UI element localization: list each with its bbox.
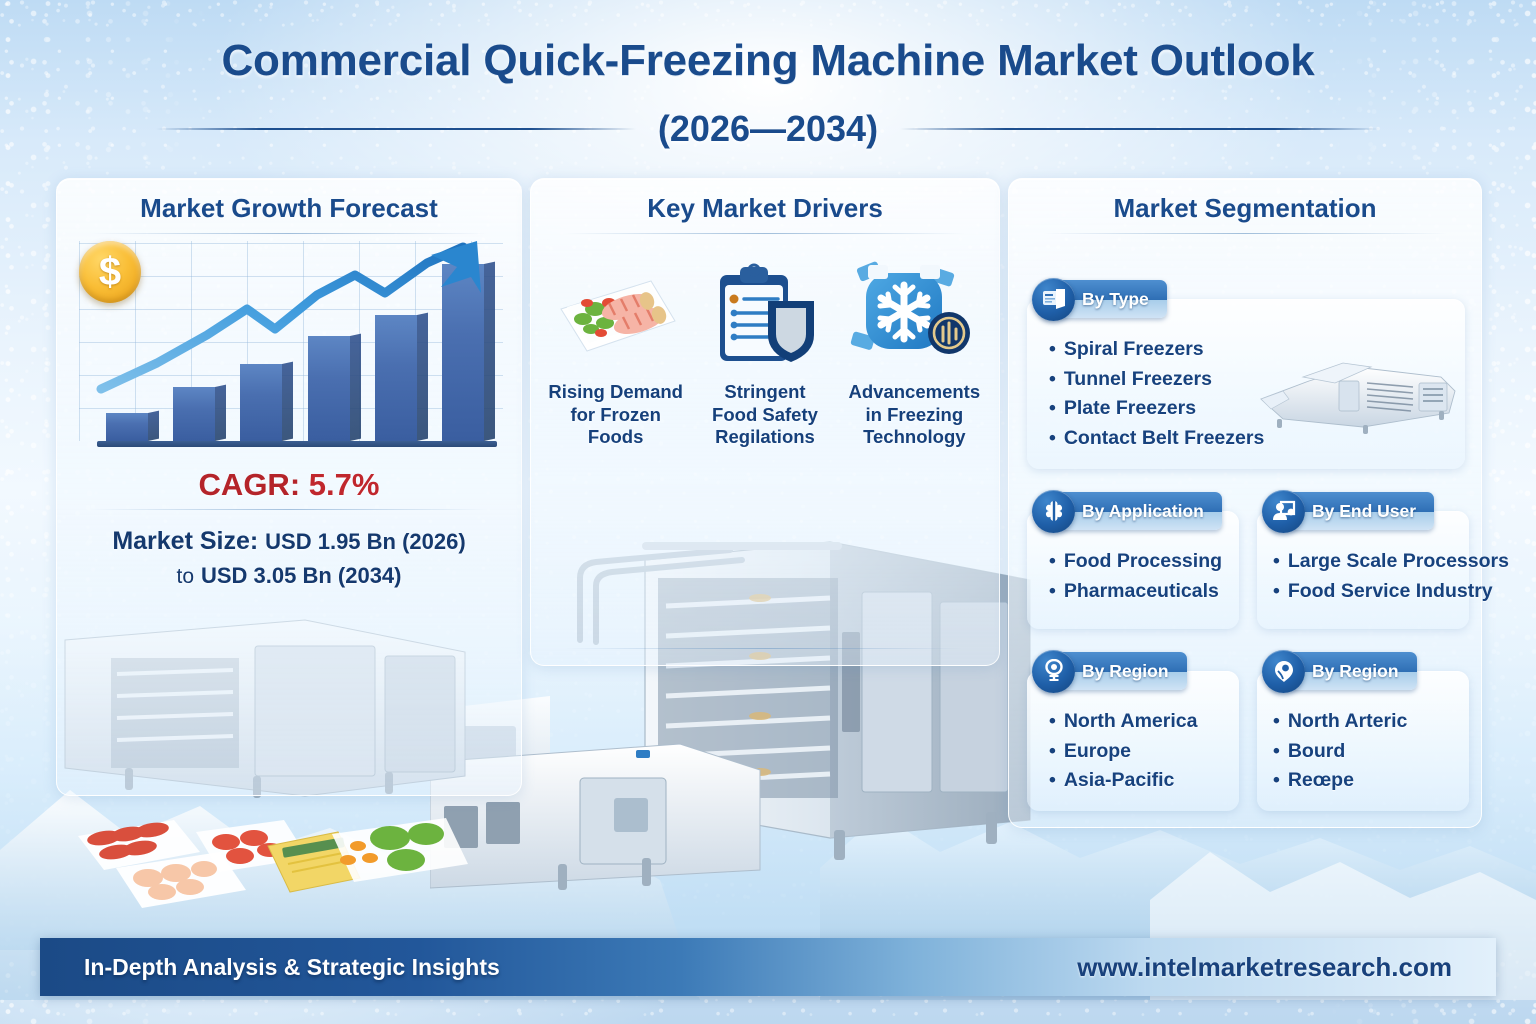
list-item: Large Scale Processors [1273, 547, 1459, 577]
user-display-icon [1262, 490, 1305, 533]
list-item: Bourd [1273, 737, 1459, 767]
cagr-label: CAGR: [199, 467, 301, 502]
segment-badge: By Type [1041, 280, 1167, 318]
list-item: North Arteric [1273, 707, 1459, 737]
molecule-cross-icon [1032, 490, 1075, 533]
footer-website[interactable]: www.intelmarketresearch.com [1077, 952, 1452, 983]
right-panel-title: Market Segmentation [1009, 179, 1481, 224]
driver-label: Rising Demandfor FrozenFoods [548, 381, 683, 449]
globe-pin-icon [1262, 650, 1305, 693]
title-rule-left [156, 128, 636, 130]
market-size-to: USD 3.05 Bn (2034) [201, 563, 402, 588]
driver-food-safety: StringentFood SafetyRegilations [690, 257, 839, 449]
subtitle-row: (2026—2034) [0, 108, 1536, 150]
trend-arrow [79, 241, 503, 441]
location-pin-icon [1032, 650, 1075, 693]
segment-badge: By Application [1041, 492, 1222, 530]
right-panel-rule [1043, 233, 1447, 234]
list-item: Europe [1049, 737, 1229, 767]
market-size-text: Market Size: USD 1.95 Bn (2026) to USD 3… [71, 525, 507, 593]
list-item: Asia-Pacific [1049, 766, 1229, 796]
mid-panel-bottom-rule [565, 648, 965, 649]
segment-badge: By End User [1271, 492, 1434, 530]
clipboard-shield-icon [706, 257, 824, 373]
left-panel-rule [91, 233, 487, 234]
segment-items: North Arteric Bourd Reœpe [1273, 707, 1459, 796]
chart-baseline [97, 441, 497, 447]
footer-tagline: In-Depth Analysis & Strategic Insights [84, 954, 500, 981]
drivers-row: Rising Demandfor FrozenFoods [541, 257, 989, 449]
key-market-drivers-panel: Key Market Drivers [530, 178, 1000, 666]
segment-badge: By Region [1041, 652, 1187, 690]
segment-badge-label: By Region [1082, 661, 1169, 682]
market-segmentation-panel: Market Segmentation By Type Spiral Freez… [1008, 178, 1482, 828]
segment-items: North America Europe Asia-Pacific [1049, 707, 1229, 796]
segment-items: Large Scale Processors Food Service Indu… [1273, 547, 1459, 606]
page-title: Commercial Quick-Freezing Machine Market… [0, 38, 1536, 85]
list-item: Pharmaceuticals [1049, 577, 1229, 607]
growth-bar-chart: $ [79, 241, 503, 441]
segment-card-by-type[interactable]: By Type Spiral Freezers Tunnel Freezers … [1027, 299, 1465, 469]
segment-badge: By Region [1271, 652, 1417, 690]
cagr-number: 5.7% [309, 467, 380, 502]
window-panel-icon [1032, 278, 1075, 321]
left-panel-title: Market Growth Forecast [57, 179, 521, 224]
list-item: North America [1049, 707, 1229, 737]
driver-frozen-food: Rising Demandfor FrozenFoods [541, 257, 690, 449]
segment-badge-label: By Region [1312, 661, 1399, 682]
list-item: Food Service Industry [1273, 577, 1459, 607]
driver-label: StringentFood SafetyRegilations [712, 381, 818, 449]
freezer-machine-thumbnail [1243, 337, 1461, 447]
frozen-food-tray-icon [553, 257, 679, 373]
dollar-coin-icon: $ [79, 241, 141, 303]
driver-freezing-tech: Advancementsin FreezingTechnology [840, 257, 989, 449]
segment-items: Food Processing Pharmaceuticals [1049, 547, 1229, 606]
driver-label: Advancementsin FreezingTechnology [849, 381, 981, 449]
market-growth-forecast-panel: Market Growth Forecast $ CAGR: 5.7% [56, 178, 522, 796]
market-size-from: USD 1.95 Bn (2026) [265, 529, 466, 554]
segment-card-by-application[interactable]: By Application Food Processing Pharmaceu… [1027, 511, 1239, 629]
segment-badge-label: By End User [1312, 501, 1416, 522]
cagr-rule [91, 509, 487, 510]
segment-badge-label: By Application [1082, 501, 1204, 522]
cagr-value: CAGR: 5.7% [57, 467, 521, 503]
segment-card-by-region-left[interactable]: By Region North America Europe Asia-Paci… [1027, 671, 1239, 811]
frozen-food-packages-illustration [70, 790, 470, 920]
list-item: Reœpe [1273, 766, 1459, 796]
market-size-label: Market Size: [112, 527, 258, 555]
list-item: Food Processing [1049, 547, 1229, 577]
mid-panel-title: Key Market Drivers [531, 179, 999, 224]
segment-badge-label: By Type [1082, 289, 1149, 310]
infographic-canvas: Commercial Quick-Freezing Machine Market… [0, 0, 1536, 1024]
footer-bar: In-Depth Analysis & Strategic Insights w… [40, 938, 1496, 996]
segment-card-by-region-right[interactable]: By Region North Arteric Bourd Reœpe [1257, 671, 1469, 811]
market-size-connector: to [177, 565, 195, 588]
segment-card-by-end-user[interactable]: By End User Large Scale Processors Food … [1257, 511, 1469, 629]
mid-panel-rule [565, 233, 965, 234]
page-subtitle: (2026—2034) [658, 108, 878, 150]
snowflake-tech-icon [850, 257, 978, 373]
title-rule-right [900, 128, 1380, 130]
